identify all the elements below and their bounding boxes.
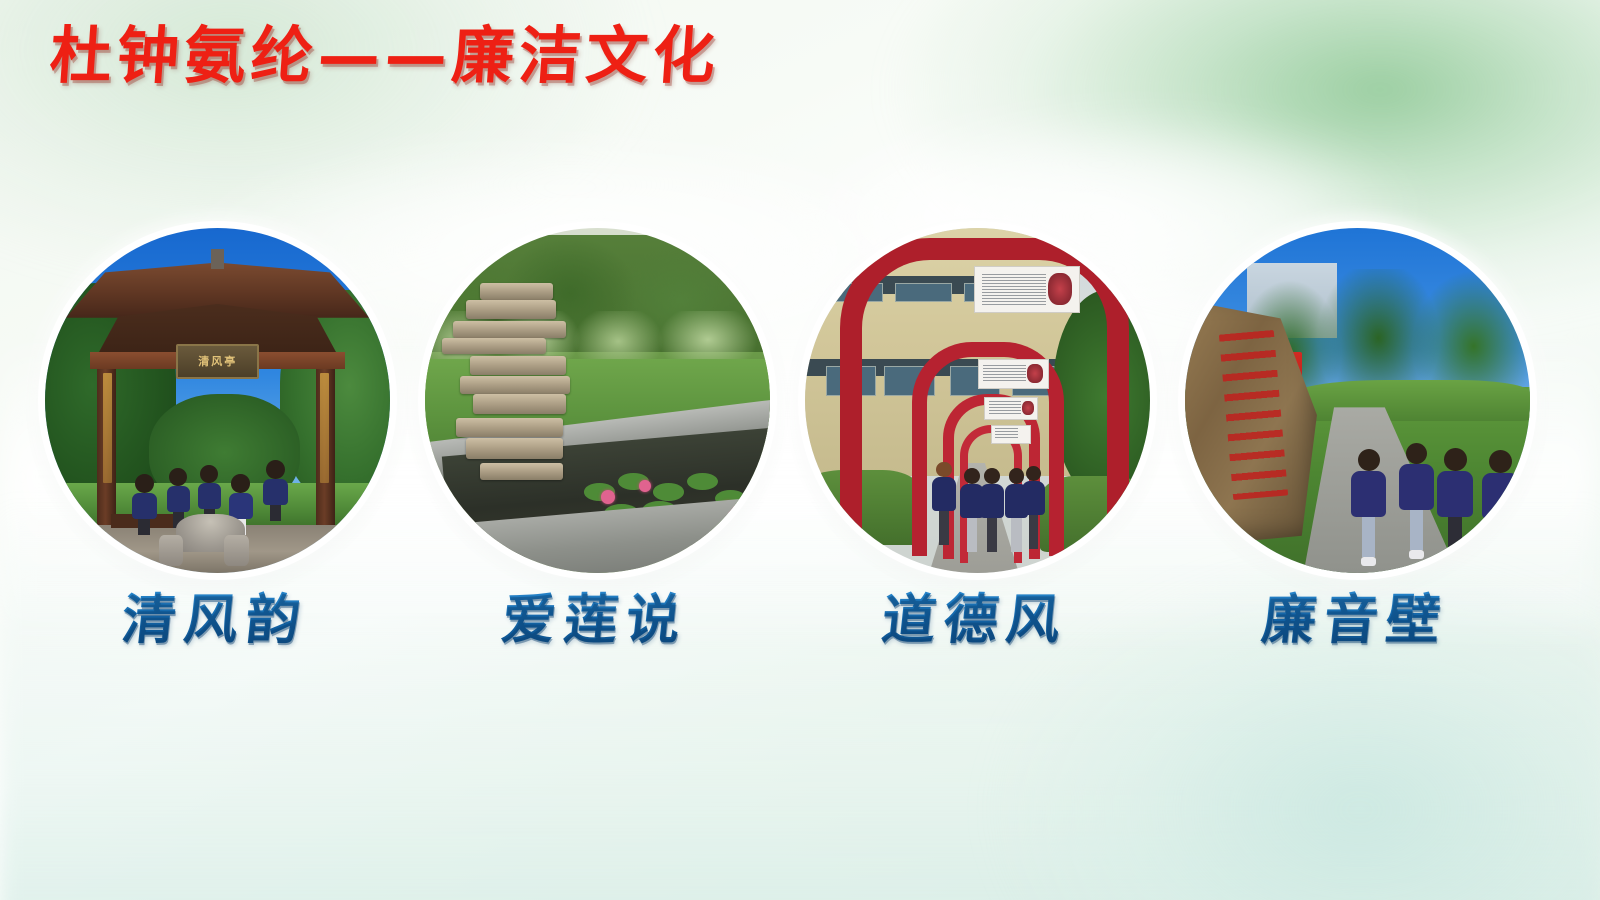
rockery-stone <box>453 321 567 338</box>
culture-signboard <box>991 425 1031 444</box>
photo-red-arches[interactable] <box>805 228 1150 573</box>
person <box>964 468 980 552</box>
lotus-flower <box>601 490 615 504</box>
photo-red-arches-scene <box>805 228 1150 573</box>
rockery-stone <box>456 418 563 437</box>
couplet-right <box>320 373 329 483</box>
pavilion-finial <box>211 249 225 270</box>
gallery-item-3[interactable] <box>785 210 1165 590</box>
gallery-item-4[interactable] <box>1165 210 1545 590</box>
lotus-flower <box>639 480 651 492</box>
caption-row: 清风韵 爱莲说 道德风 廉音壁 <box>0 588 1600 678</box>
person <box>266 460 285 521</box>
slide-title: 杜钟氨纶——廉洁文化 <box>48 22 723 90</box>
caption-daodefeng: 道德风 <box>782 588 1169 652</box>
culture-signboard <box>974 266 1080 313</box>
caption-ailianshuo: 爱莲说 <box>402 588 789 652</box>
rockery-stone <box>470 356 567 375</box>
rockery-stone <box>466 438 563 459</box>
photo-lotus-pond-scene <box>425 228 770 573</box>
photo-row: 清风亭 <box>0 210 1600 590</box>
person <box>1489 450 1512 559</box>
photo-engraved-stone-scene <box>1185 228 1530 573</box>
person <box>1444 448 1467 566</box>
person <box>1406 443 1427 559</box>
person <box>1358 449 1380 566</box>
gallery-item-1[interactable]: 清风亭 <box>25 210 405 590</box>
person <box>1026 466 1041 549</box>
rockery-stone <box>442 338 546 354</box>
photo-lotus-pond[interactable] <box>425 228 770 573</box>
caption-lianyinbi: 廉音壁 <box>1162 588 1549 652</box>
couplet-left <box>103 373 112 483</box>
stone-stool <box>224 535 248 566</box>
rockery-stone <box>466 300 556 319</box>
rockery-stone <box>460 376 570 393</box>
person <box>984 468 1000 552</box>
person <box>135 474 154 535</box>
caption-qingfengyun: 清风韵 <box>22 588 409 652</box>
photo-pavilion-scene: 清风亭 <box>45 228 390 573</box>
rockery-stone <box>480 463 563 480</box>
culture-signboard <box>984 397 1038 420</box>
gallery-item-2[interactable] <box>405 210 785 590</box>
lily-pad <box>653 483 684 500</box>
culture-signboard <box>978 359 1049 389</box>
photo-pavilion[interactable]: 清风亭 <box>45 228 390 573</box>
person <box>936 462 952 546</box>
rockery-stone <box>480 283 552 300</box>
rockery-stone <box>473 394 566 415</box>
photo-engraved-stone[interactable] <box>1185 228 1530 573</box>
pavilion-plaque: 清风亭 <box>176 344 259 379</box>
stone-stool <box>159 535 183 566</box>
pavilion-plaque-text: 清风亭 <box>198 353 237 369</box>
hedge <box>1289 380 1531 421</box>
